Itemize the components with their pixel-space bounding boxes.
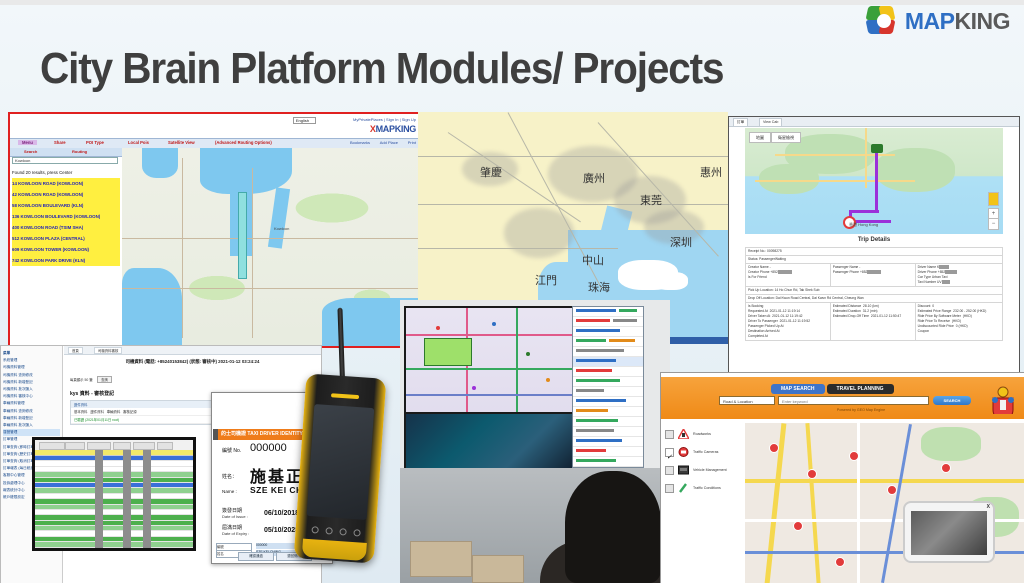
- tab-poi-type[interactable]: POI Type: [86, 140, 104, 145]
- data-export-spreadsheet: [32, 437, 196, 551]
- mapking-map-canvas[interactable]: Kowloon: [122, 148, 422, 346]
- link-bookmarks[interactable]: Bookmarks: [350, 140, 370, 145]
- portal-tab-group: MAP SEARCH TRAVEL PLANNING: [771, 384, 894, 394]
- section-tab-docs[interactable]: 證件資料: [90, 410, 104, 414]
- city-label-huizhou: 惠州: [700, 164, 722, 180]
- mapking-app-logo: XMAPKING: [370, 124, 416, 134]
- link-add-place[interactable]: Add Place: [380, 140, 398, 145]
- device-screen[interactable]: [307, 404, 375, 520]
- browser-tab-bar: 訂單 View Cab: [729, 117, 1019, 127]
- city-label-jiangmen: 江門: [535, 272, 557, 288]
- dropoff-row: Drop Off Location: Dai Kwun Road Central…: [746, 295, 1003, 303]
- card-no-label: 編號 No.: [222, 447, 241, 454]
- map-place-label: Kowloon: [274, 226, 289, 231]
- logo-text-map: MAP: [905, 8, 955, 34]
- search-input[interactable]: Enter keyword: [778, 396, 929, 405]
- redaction-bar: [123, 450, 131, 548]
- camera-snapshot: [911, 511, 987, 555]
- city-label-shenzhen: 深圳: [670, 234, 692, 250]
- card-expiry-label-cn: 屆滿日期: [222, 524, 242, 531]
- tab-map-search[interactable]: MAP SEARCH: [771, 384, 825, 394]
- subtab-routing[interactable]: Routing: [72, 149, 87, 154]
- mapking-logo-text: MAPKING: [905, 8, 1010, 35]
- roadworks-icon: [678, 429, 689, 439]
- link-print[interactable]: Print: [408, 140, 416, 145]
- checkbox-roadworks[interactable]: [665, 430, 674, 439]
- header-links[interactable]: MyPrivatePlaces | Sign In | Sign Up: [353, 117, 416, 122]
- admin-tab-home[interactable]: 首頁: [68, 347, 83, 354]
- tab-advanced-routing[interactable]: (Advanced Routing Options): [215, 140, 272, 145]
- checkbox-traffic-conditions[interactable]: [665, 484, 674, 493]
- government-crest-icon: [989, 384, 1017, 414]
- card-name-cn: 施基正: [250, 463, 304, 487]
- device-nav-buttons[interactable]: [307, 525, 363, 537]
- satellite-type-button[interactable]: 衛星檢視: [771, 132, 801, 143]
- vehicle-icon: [678, 465, 689, 475]
- query-button[interactable]: 查詢: [97, 376, 112, 383]
- legend-item-roadworks[interactable]: Roadworks: [665, 425, 743, 443]
- traffic-icon: [678, 483, 689, 493]
- top-strip: [0, 0, 1024, 5]
- tree-title: 菜單: [3, 350, 60, 357]
- result-item[interactable]: 136 KOWLOON BOULEVARD (KOWLOON): [12, 211, 120, 222]
- result-item[interactable]: 742 KOWLOON PARK DRIVE (KLN): [12, 255, 120, 266]
- mapking-web-app-screenshot: English MyPrivatePlaces | Sign In | Sign…: [8, 112, 424, 348]
- zoom-out-button[interactable]: −: [988, 218, 999, 230]
- tree-item[interactable]: 司機資料 審核中心: [3, 393, 60, 400]
- legend-item-vehicles[interactable]: Vehicle Management: [665, 461, 743, 479]
- search-input[interactable]: Kowloon: [12, 157, 118, 164]
- control-room-photo: [400, 300, 670, 583]
- mapking-logo: MAPKING: [867, 6, 1010, 36]
- pricing-cell: Discount 0 Estimated Price Range 232.00 …: [915, 303, 1002, 341]
- tree-item[interactable]: 系統管理: [3, 357, 60, 364]
- rugged-handheld-device: [294, 373, 387, 563]
- legend-item-conditions[interactable]: Traffic Conditions: [665, 479, 743, 497]
- camera-preview-popup[interactable]: X: [903, 501, 995, 563]
- fleet-map-monitor: [404, 306, 574, 414]
- browser-tab-orders[interactable]: 訂單: [733, 118, 748, 126]
- trip-details-screenshot: 訂單 View Cab 地圖 衛星檢視 + − 香港 Hong Kong Tri…: [728, 116, 1020, 376]
- operator-head: [565, 471, 661, 583]
- admin-record-header: 司機資料 (電話: +85240153842) (狀態: 審核中) 2021-0…: [64, 359, 321, 365]
- tab-travel-planning[interactable]: TRAVEL PLANNING: [827, 384, 894, 394]
- google-map-route[interactable]: 地圖 衛星檢視 + − 香港 Hong Kong: [745, 128, 1003, 234]
- tab-local-pois[interactable]: Local Pois: [128, 140, 149, 145]
- traffic-portal-screenshot: MAP SEARCH TRAVEL PLANNING Road & Locati…: [660, 372, 1024, 583]
- tree-item[interactable]: 車輛資料 查詢修改: [3, 408, 60, 415]
- card-name-en-label: Name :: [222, 489, 237, 494]
- device-shell: [294, 373, 387, 563]
- result-item[interactable]: 400 KOWLOON ROAD (TSIM SHA): [12, 222, 120, 233]
- traffic-map-canvas[interactable]: X: [745, 423, 1024, 583]
- tree-item[interactable]: 司機資料 查詢修改: [3, 372, 60, 379]
- checkbox-traffic-cameras[interactable]: [665, 448, 674, 457]
- tree-item[interactable]: 司機資料 批次匯入: [3, 386, 60, 393]
- card-name-cn-label: 姓名：: [222, 473, 237, 480]
- card-issue-label-cn: 簽發日期: [222, 507, 242, 514]
- portal-note: Powered by GEO Map Engine: [771, 408, 951, 412]
- browser-tab-viewcab[interactable]: View Cab: [759, 118, 782, 126]
- section-tab-audit[interactable]: 審核記錄: [123, 410, 137, 414]
- card-no-value: 000000: [250, 442, 287, 454]
- tree-item[interactable]: 車輛資料管理: [3, 400, 60, 407]
- results-header: Found 20 results, press Center: [12, 167, 120, 178]
- table-row[interactable]: [35, 548, 193, 551]
- result-item[interactable]: 14 KOWLOON ROAD (KOWLOON): [12, 178, 120, 189]
- city-label-dongguan: 東莞: [640, 192, 662, 208]
- timeline-cell: Is Booking Requested At 2021-01-12 11:19…: [746, 303, 831, 341]
- vehicle-info-popup: [424, 338, 472, 366]
- receipt-row: Receipt No.: 00098275: [746, 248, 1003, 256]
- street-view-pegman-icon[interactable]: [988, 192, 999, 206]
- card-issue-label-en: Date of Issue :: [222, 514, 248, 519]
- search-button[interactable]: SEARCH: [933, 396, 971, 405]
- device-chin: [302, 539, 367, 561]
- city-label-zhaoqing: 肇慶: [480, 164, 502, 180]
- mapking-header: English MyPrivatePlaces | Sign In | Sign…: [10, 114, 422, 138]
- portal-header: MAP SEARCH TRAVEL PLANNING Road & Locati…: [661, 377, 1024, 419]
- city-label-zhuhai: 珠海: [588, 279, 610, 295]
- destination-marker: [871, 144, 883, 153]
- tree-item[interactable]: 司機資料 新增登記: [3, 379, 60, 386]
- fleet-tracking-map: [406, 308, 572, 412]
- redaction-bar: [95, 450, 103, 548]
- vehicle-status-list: [572, 306, 644, 468]
- card-issue-value: 06/10/2018: [264, 510, 299, 517]
- card-expiry-value: 05/10/2028: [264, 527, 299, 534]
- zoom-slider[interactable]: [238, 192, 247, 279]
- result-item[interactable]: 42 KOWLOON ROAD (KOWLOON): [12, 189, 120, 200]
- cctv-monitor: [404, 412, 574, 470]
- creator-cell: Creator Name - Creator Phone +852 Is For…: [746, 264, 831, 287]
- cardboard-box: [410, 541, 472, 577]
- map-type-button[interactable]: 地圖: [749, 132, 771, 143]
- mapking-logo-mark: [867, 6, 901, 36]
- tab-menu[interactable]: Menu: [18, 140, 37, 145]
- city-label-guangzhou: 廣州: [583, 170, 605, 186]
- driver-cell: Driver Name K Driver Phone +852 Car Type…: [915, 264, 1002, 287]
- map-region-label: 香港 Hong Kong: [849, 222, 878, 228]
- result-item[interactable]: 609 KOWLOON TOWER (KOWLOON): [12, 244, 120, 255]
- section-tab-vehicle[interactable]: 車輛資料: [107, 410, 121, 414]
- language-select[interactable]: English: [293, 117, 316, 124]
- page-count-label: 每頁顯示 50 筆: [70, 378, 93, 382]
- close-icon[interactable]: X: [987, 504, 990, 510]
- approve-button[interactable]: 確認通過: [238, 552, 274, 561]
- status-row: Status: PassengerWaiting: [746, 256, 1003, 264]
- subtab-search[interactable]: Search: [24, 149, 37, 154]
- passenger-cell: Passenger Name - Passenger Phone +852: [830, 264, 915, 287]
- tab-satellite[interactable]: Satellite View: [168, 140, 195, 145]
- card-expiry-label-en: Date of Expiry :: [222, 531, 249, 536]
- admin-tab-bar: 首頁 司機資料審核: [64, 346, 321, 355]
- tree-item[interactable]: 車輛資料 新增登記: [3, 415, 60, 422]
- result-item[interactable]: 58 KOWLOON BOULEVARD (KLN): [12, 200, 120, 211]
- trip-details-table: Receipt No.: 00098275 Status: PassengerW…: [745, 247, 1003, 341]
- cardboard-box: [472, 555, 524, 583]
- search-results-list: Found 20 results, press Center 14 KOWLOO…: [12, 167, 120, 266]
- slide-root: MAPKING City Brain Platform Modules/ Pro…: [0, 0, 1024, 583]
- category-select[interactable]: Road & Location: [719, 396, 775, 405]
- logo-text-king: KING: [955, 8, 1011, 34]
- admin-tab-review[interactable]: 司機資料審核: [94, 347, 122, 354]
- layer-legend: Roadworks Traffic Cameras Vehicle Manage…: [665, 425, 743, 497]
- tree-item-selected[interactable]: 運營管理: [3, 429, 60, 436]
- legend-label: Vehicle Management: [693, 468, 727, 472]
- legend-label: Traffic Cameras: [693, 450, 718, 454]
- legend-label: Roadworks: [693, 432, 711, 436]
- tree-item[interactable]: 車輛資料 批次匯入: [3, 422, 60, 429]
- tree-item[interactable]: 司機資料管理: [3, 364, 60, 371]
- redaction-bar: [143, 450, 151, 548]
- mapking-subtab-bar: Search Routing: [10, 148, 122, 157]
- city-label-zhongshan: 中山: [582, 252, 604, 268]
- result-item[interactable]: 512 KOWLOON PLAZA (CENTRAL): [12, 233, 120, 244]
- section-tab-basic[interactable]: 基本資料: [74, 410, 88, 414]
- live-cctv-feed: [406, 414, 572, 468]
- page-title: City Brain Platform Modules/ Projects: [40, 44, 723, 94]
- pickup-row: Pick Up Location: 14 Ho Chun Rd, Tak She…: [746, 287, 1003, 295]
- spreadsheet-grid[interactable]: [35, 450, 193, 548]
- legend-item-cameras[interactable]: Traffic Cameras: [665, 443, 743, 461]
- legend-label: Traffic Conditions: [693, 486, 721, 490]
- device-speaker: [331, 393, 359, 399]
- trip-details-title: Trip Details: [745, 237, 1003, 243]
- camera-icon: [678, 447, 689, 457]
- tab-share[interactable]: Share: [54, 140, 66, 145]
- estimates-cell: Estimated Distance 28.10 (km) Estimated …: [830, 303, 915, 341]
- checkbox-vehicle-management[interactable]: [665, 466, 674, 475]
